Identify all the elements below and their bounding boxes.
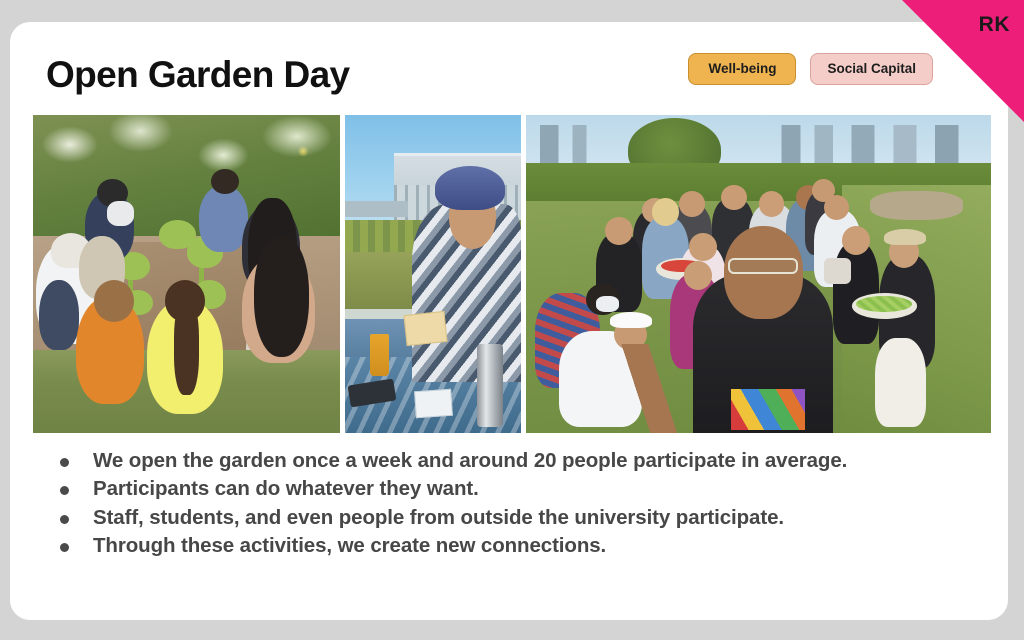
tag-well-being[interactable]: Well-being: [688, 53, 796, 85]
person-head: [824, 195, 850, 220]
person-head: [211, 169, 239, 194]
slide-header: Open Garden Day Well-being Social Capita…: [10, 22, 1008, 110]
list-item: Participants can do whatever they want.: [38, 475, 988, 502]
photo-strip: [33, 115, 991, 433]
list-item: Through these activities, we create new …: [38, 532, 988, 559]
person-head: [842, 226, 870, 255]
seedling-leaf: [159, 220, 196, 249]
face-mask: [107, 201, 135, 226]
bullet-text: Staff, students, and even people from ou…: [93, 504, 988, 531]
selfie-arm: [573, 344, 713, 433]
bullet-dot-icon: [60, 515, 69, 524]
person-white-skirt: [875, 338, 926, 427]
person-head: [689, 233, 717, 262]
paper-box: [414, 388, 453, 418]
page-title: Open Garden Day: [46, 56, 350, 93]
person-head: [684, 261, 712, 290]
bullet-dot-icon: [60, 486, 69, 495]
white-cap: [610, 312, 652, 328]
bullet-dot-icon: [60, 543, 69, 552]
sun-hat: [884, 229, 926, 245]
person-head: [679, 191, 705, 216]
sandwich: [403, 311, 447, 346]
slide-card: Open Garden Day Well-being Social Capita…: [10, 22, 1008, 620]
person-hair: [254, 236, 309, 357]
list-item: Staff, students, and even people from ou…: [38, 504, 988, 531]
tag-row: Well-being Social Capital: [688, 53, 933, 85]
tshirt-graphic: [731, 389, 805, 430]
person-figure: [199, 185, 248, 252]
person-head: [759, 191, 785, 216]
photo-picnic-table: [345, 115, 521, 433]
honey-jar: [370, 334, 389, 375]
bucket-hat: [435, 166, 505, 211]
person-lower-body: [39, 280, 79, 350]
bullet-list: We open the garden once a week and aroun…: [38, 447, 988, 560]
photo-planting-seedlings: [33, 115, 340, 433]
person-hair: [174, 299, 199, 394]
dirt-patch: [870, 191, 963, 220]
bullet-text: Through these activities, we create new …: [93, 532, 988, 559]
slide-root: Open Garden Day Well-being Social Capita…: [0, 0, 1024, 640]
list-item: We open the garden once a week and aroun…: [38, 447, 988, 474]
person-head: [94, 280, 134, 321]
bullet-dot-icon: [60, 458, 69, 467]
person-cardigan: [824, 258, 852, 283]
bullet-text: We open the garden once a week and aroun…: [93, 447, 988, 474]
person-head: [721, 185, 747, 210]
thermos-bottle: [477, 344, 503, 427]
bullet-text: Participants can do whatever they want.: [93, 475, 988, 502]
eyeglasses: [728, 258, 798, 274]
person-head: [605, 217, 633, 246]
tag-social-capital[interactable]: Social Capital: [810, 53, 933, 85]
photo-group-selfie: [526, 115, 991, 433]
bridge: [345, 201, 408, 217]
author-initials: RK: [979, 14, 1010, 35]
face-mask: [596, 296, 619, 312]
